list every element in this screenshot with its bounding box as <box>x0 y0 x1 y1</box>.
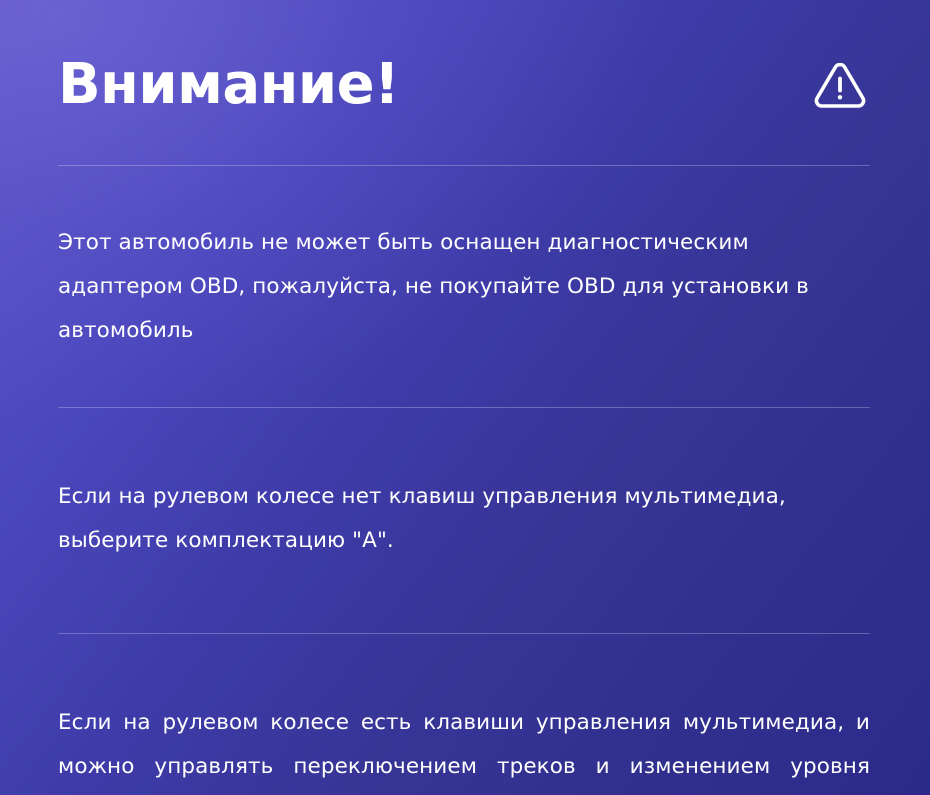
divider-top <box>58 165 870 166</box>
warning-notice-card: Внимание! Этот автомобиль не может быть … <box>0 0 930 795</box>
divider-middle <box>58 407 870 408</box>
notice-text-trim-b: Если на рулевом колесе есть клавиши упра… <box>58 656 870 795</box>
notice-text-obd-adapter-warning: Этот автомобиль не может быть оснащен ди… <box>58 188 870 386</box>
page-title: Внимание! <box>58 57 399 113</box>
warning-triangle-icon <box>812 57 872 113</box>
notice-text-trim-a: Если на рулевом колесе нет клавиш управл… <box>58 430 870 612</box>
notice-header: Внимание! <box>58 0 872 165</box>
card-content: Внимание! Этот автомобиль не может быть … <box>0 0 930 795</box>
divider-bottom <box>58 633 870 634</box>
